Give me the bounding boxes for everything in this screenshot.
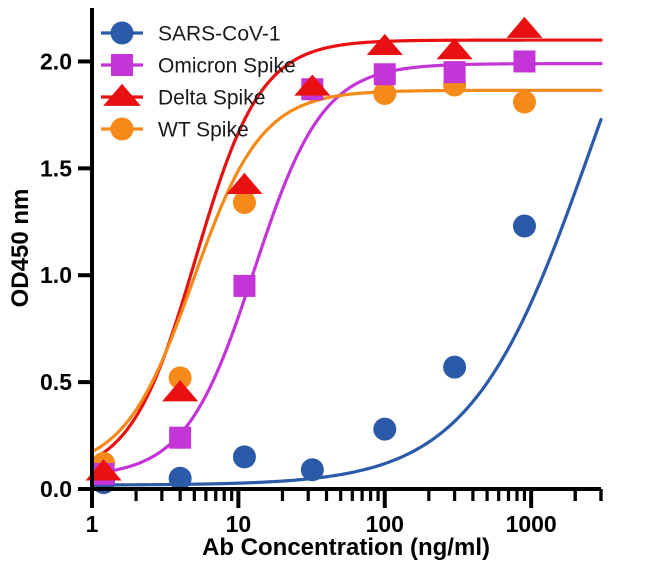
legend-label-delta-spike: Delta Spike	[158, 87, 265, 110]
data-point-sars-cov-1	[169, 467, 192, 490]
data-point-omicron-spike	[444, 61, 466, 83]
legend-label-omicron-spike: Omicron Spike	[158, 55, 296, 78]
chart-canvas: 0.00.51.01.52.0 1101001000 SARS-CoV-1Omi…	[0, 0, 650, 573]
data-point-delta-spike	[367, 34, 403, 55]
legend-label-wt-spike: WT Spike	[158, 119, 249, 142]
legend-marker-delta-spike	[103, 84, 141, 106]
legend-marker-sars-cov-1	[111, 22, 134, 45]
data-markers-layer	[86, 17, 543, 494]
x-axis-title: Ab Concentration (ng/ml)	[202, 534, 490, 561]
data-point-delta-spike	[162, 380, 198, 401]
axes	[92, 8, 601, 489]
data-point-sars-cov-1	[443, 356, 466, 379]
legend: SARS-CoV-1Omicron SpikeDelta SpikeWT Spi…	[101, 22, 296, 142]
data-point-wt-spike	[513, 91, 536, 114]
chart-container: 0.00.51.01.52.0 1101001000 SARS-CoV-1Omi…	[0, 0, 650, 573]
data-point-omicron-spike	[233, 275, 255, 297]
legend-marker-wt-spike	[111, 118, 134, 141]
data-point-delta-spike	[294, 74, 330, 95]
y-axis-ticks: 0.00.51.01.52.0	[40, 48, 92, 502]
data-point-sars-cov-1	[513, 215, 536, 238]
y-tick-label: 2.0	[40, 48, 72, 74]
y-tick-label: 0.5	[40, 369, 72, 395]
y-axis-title: OD450 nm	[7, 189, 34, 308]
data-point-sars-cov-1	[233, 445, 256, 468]
data-point-omicron-spike	[169, 427, 191, 449]
data-point-sars-cov-1	[373, 418, 396, 441]
data-point-wt-spike	[233, 191, 256, 214]
x-tick-label: 1	[86, 511, 99, 537]
legend-marker-omicron-spike	[111, 54, 133, 76]
data-point-sars-cov-1	[301, 458, 324, 481]
data-point-delta-spike	[506, 17, 542, 38]
data-point-omicron-spike	[374, 63, 396, 85]
legend-label-sars-cov-1: SARS-CoV-1	[158, 23, 281, 46]
y-tick-label: 1.5	[40, 155, 72, 181]
y-tick-label: 1.0	[40, 262, 72, 288]
x-tick-label: 1000	[506, 511, 557, 537]
y-tick-label: 0.0	[40, 476, 72, 502]
data-point-omicron-spike	[513, 50, 535, 72]
x-axis-ticks: 1101001000	[86, 489, 601, 537]
data-point-wt-spike	[373, 82, 396, 105]
